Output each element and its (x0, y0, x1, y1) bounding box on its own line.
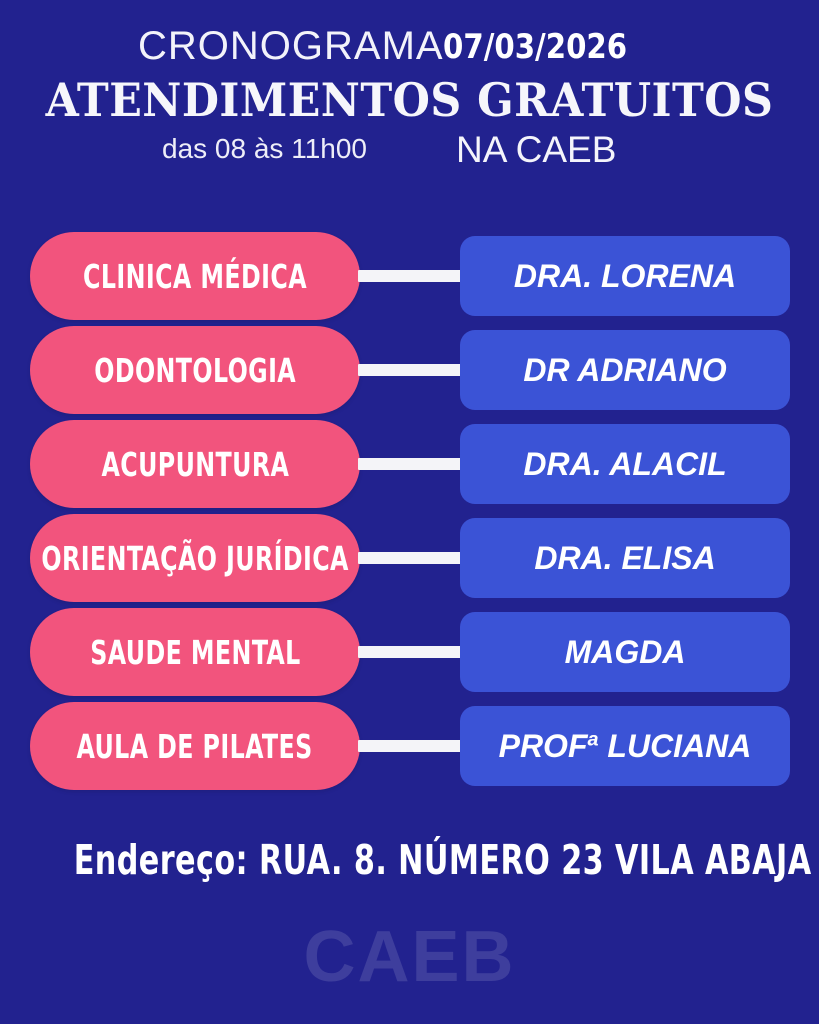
service-pill: CLINICA MÉDICA (30, 232, 360, 320)
schedule-list: CLINICA MÉDICA DRA. LORENA ODONTOLOGIA D… (0, 232, 819, 796)
professional-pill: DRA. LORENA (460, 236, 790, 316)
service-pill: SAUDE MENTAL (30, 608, 360, 696)
page-title: ATENDIMENTOS GRATUITOS (29, 74, 791, 126)
header-hours: das 08 às 11h00 (162, 132, 367, 166)
professional-label: DRA. ALACIL (523, 446, 726, 483)
header-kicker: CRONOGRAMA (138, 24, 444, 68)
service-pill: ODONTOLOGIA (30, 326, 360, 414)
schedule-row: ORIENTAÇÃO JURÍDICA DRA. ELISA (0, 514, 819, 608)
schedule-row: SAUDE MENTAL MAGDA (0, 608, 819, 702)
schedule-row: ACUPUNTURA DRA. ALACIL (0, 420, 819, 514)
poster-header: CRONOGRAMA 07/03/2026 ATENDIMENTOS GRATU… (0, 0, 819, 200)
service-label: ODONTOLOGIA (94, 351, 296, 390)
professional-pill: DRA. ELISA (460, 518, 790, 598)
row-connector (358, 740, 464, 752)
header-place: NA CAEB (456, 128, 616, 172)
row-connector (358, 552, 464, 564)
professional-pill: DR ADRIANO (460, 330, 790, 410)
row-connector (358, 270, 464, 282)
service-pill: ACUPUNTURA (30, 420, 360, 508)
header-date: 07/03/2026 (443, 28, 627, 66)
row-connector (358, 458, 464, 470)
service-label: SAUDE MENTAL (90, 633, 300, 672)
professional-pill: MAGDA (460, 612, 790, 692)
service-label: CLINICA MÉDICA (83, 257, 307, 296)
service-pill: AULA DE PILATES (30, 702, 360, 790)
schedule-row: AULA DE PILATES PROFa LUCIANA (0, 702, 819, 796)
professional-label: MAGDA (565, 634, 686, 671)
row-connector (358, 646, 464, 658)
professional-pill: DRA. ALACIL (460, 424, 790, 504)
professional-label: DRA. ELISA (534, 540, 715, 577)
service-pill: ORIENTAÇÃO JURÍDICA (30, 514, 360, 602)
address-text: Endereço: RUA. 8. NÚMERO 23 VILA ABAJA (74, 836, 746, 884)
professional-label: DR ADRIANO (523, 352, 726, 389)
caeb-watermark: CAEB (0, 918, 819, 996)
schedule-row: ODONTOLOGIA DR ADRIANO (0, 326, 819, 420)
service-label: ACUPUNTURA (101, 445, 289, 484)
professional-label: PROFa LUCIANA (499, 728, 752, 765)
service-label: ORIENTAÇÃO JURÍDICA (41, 539, 348, 578)
schedule-row: CLINICA MÉDICA DRA. LORENA (0, 232, 819, 326)
row-connector (358, 364, 464, 376)
service-label: AULA DE PILATES (77, 727, 313, 766)
professional-label: DRA. LORENA (514, 258, 736, 295)
professional-pill: PROFa LUCIANA (460, 706, 790, 786)
